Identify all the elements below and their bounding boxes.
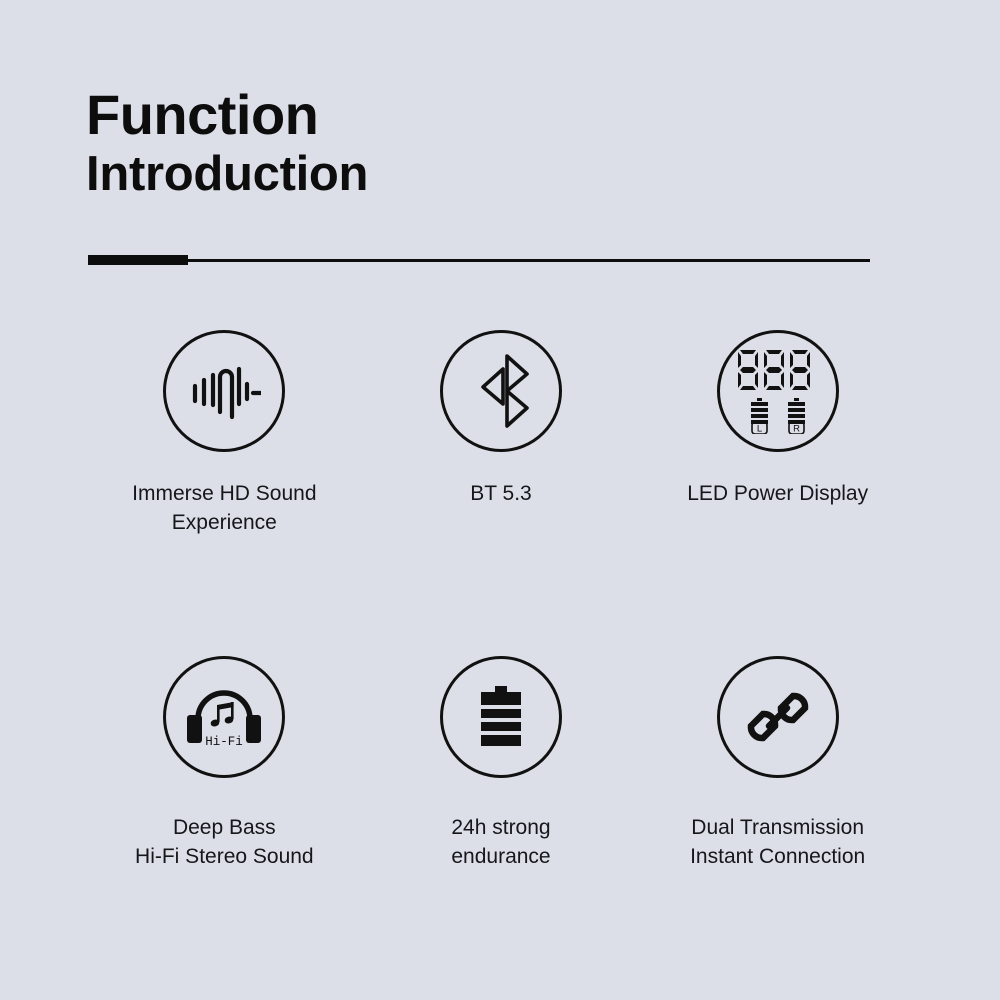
divider-thick-segment <box>88 255 188 265</box>
svg-text:R: R <box>793 424 800 434</box>
page-title-line-1: Function <box>86 86 926 145</box>
bluetooth-icon <box>465 352 537 430</box>
feature-caption: LED Power Display <box>687 480 868 509</box>
function-introduction-page: Function Introduction <box>0 0 1000 1000</box>
page-title-line-2: Introduction <box>86 147 926 202</box>
page-title: Function Introduction <box>86 86 926 202</box>
feature-icon-circle: L R <box>717 330 839 452</box>
feature-icon-circle <box>440 330 562 452</box>
feature-caption: Immerse HD Sound Experience <box>132 480 316 538</box>
battery-icon <box>479 686 523 748</box>
feature-item-dual-transmission: Dual Transmission Instant Connection <box>639 656 916 872</box>
feature-item-battery-endurance: 24h strong endurance <box>363 656 640 872</box>
feature-icon-circle <box>163 330 285 452</box>
feature-icon-circle: Hi-Fi <box>163 656 285 778</box>
feature-item-deep-bass-hifi: Hi-Fi Deep Bass Hi-Fi Stereo Sound <box>86 656 363 872</box>
divider-thin-segment <box>186 259 870 262</box>
feature-item-immerse-hd-sound: Immerse HD Sound Experience <box>86 330 363 538</box>
headphones-hifi-icon: Hi-Fi <box>184 685 264 749</box>
chain-link-icon <box>743 682 813 752</box>
hifi-badge-text: Hi-Fi <box>206 735 244 749</box>
led-power-display-icon: L R <box>736 348 820 434</box>
svg-text:L: L <box>757 424 762 434</box>
feature-caption: BT 5.3 <box>470 480 531 509</box>
feature-item-bluetooth: BT 5.3 <box>363 330 640 538</box>
feature-item-led-power-display: L R LED Power Display <box>639 330 916 538</box>
sound-wave-icon <box>187 354 261 428</box>
feature-icon-circle <box>717 656 839 778</box>
feature-caption: Deep Bass Hi-Fi Stereo Sound <box>135 814 314 872</box>
feature-grid: Immerse HD Sound Experience BT 5.3 <box>86 330 916 872</box>
feature-icon-circle <box>440 656 562 778</box>
feature-caption: Dual Transmission Instant Connection <box>690 814 865 872</box>
feature-caption: 24h strong endurance <box>451 814 550 872</box>
title-divider <box>88 255 870 265</box>
